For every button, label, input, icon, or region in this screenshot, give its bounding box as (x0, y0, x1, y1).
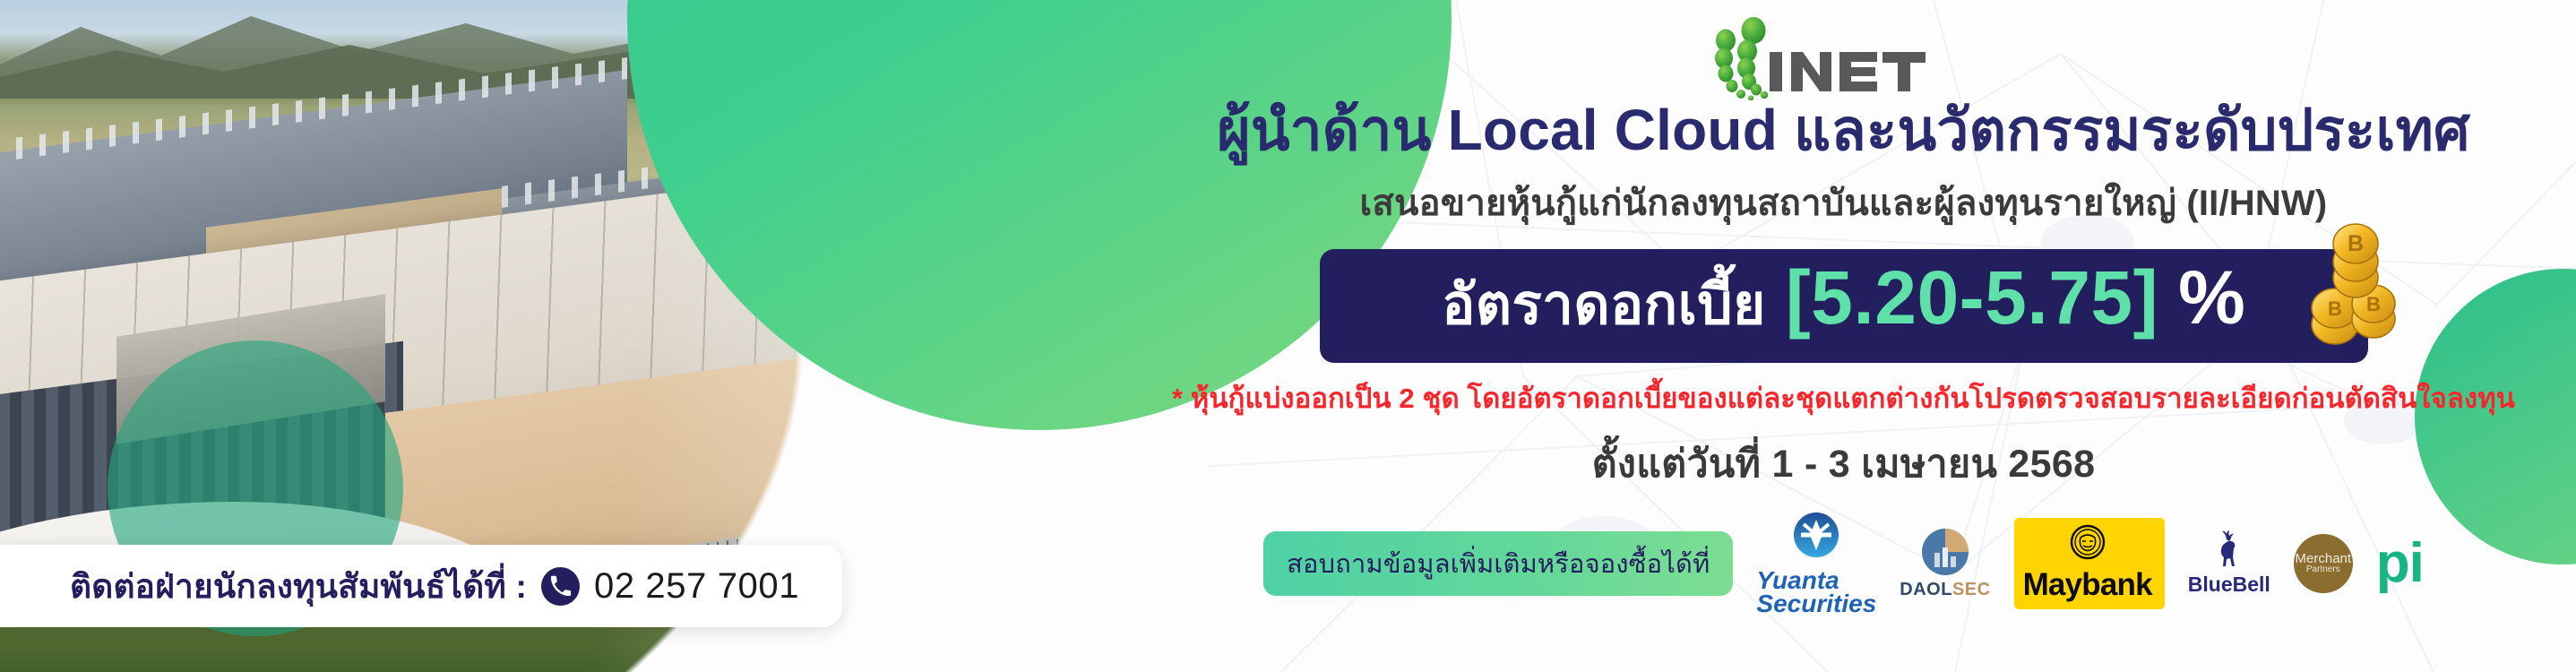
daol-wordmark: DAOLSEC (1900, 580, 1990, 600)
contact-label: ติดต่อฝ่ายนักลงทุนสัมพันธ์ได้ที่ : (70, 560, 527, 613)
logo-wordmark (1770, 52, 1926, 91)
partner-logo-merchant-partners[interactable]: Merchant Partners (2294, 534, 2353, 593)
bluebell-deer-icon (2209, 530, 2250, 572)
phone-icon (541, 567, 580, 606)
interest-rate-value: [5.20-5.75] (1786, 260, 2158, 335)
promo-banner: ติดต่อฝ่ายนักลงทุนสัมพันธ์ได้ที่ : 02 25… (0, 0, 2576, 672)
daol-light: SEC (1952, 580, 1991, 599)
bluebell-wordmark: BlueBell (2188, 573, 2270, 597)
inquiry-cta-button[interactable]: สอบถามข้อมูลเพิ่มเติมหรือจองซื้อได้ที่ (1263, 531, 1733, 596)
disclaimer-note: * หุ้นกู้แบ่งออกเป็น 2 ชุด โดยอัตราดอกเบ… (1172, 375, 2515, 420)
interest-rate-block: อัตราดอกเบี้ย [5.20-5.75] % (1320, 249, 2368, 363)
merchant-line1: Merchant (2296, 552, 2352, 566)
yuanta-line2: Securities (1756, 592, 1876, 616)
page-title: ผู้นำด้าน Local Cloud และนวัตกรรมระดับปร… (1217, 99, 2470, 163)
offer-period-date: ตั้งแต่วันที่ 1 - 3 เมษายน 2568 (1592, 433, 2096, 494)
inet-logo (1696, 14, 1992, 100)
partner-logo-pi-securities[interactable]: pi (2376, 541, 2424, 586)
yuanta-star-icon (1793, 512, 1839, 558)
daol-pie-icon (1919, 526, 1971, 578)
partners-row: สอบถามข้อมูลเพิ่มเติมหรือจองซื้อได้ที่ (1263, 512, 2424, 616)
merchant-line2: Partners (2306, 565, 2340, 575)
pi-wordmark: pi (2376, 541, 2424, 586)
yuanta-line1: Yuanta (1756, 569, 1876, 592)
page-subtitle: เสนอขายหุ้นกู้แก่นักลงทุนสถาบันและผู้ลงท… (1360, 174, 2328, 231)
yuanta-wordmark: Yuanta Securities (1756, 569, 1876, 616)
partner-logo-maybank[interactable]: Maybank (2014, 518, 2165, 609)
svg-text:B: B (2347, 231, 2363, 256)
investor-relations-contact-card[interactable]: ติดต่อฝ่ายนักลงทุนสัมพันธ์ได้ที่ : 02 25… (0, 545, 842, 627)
partner-logo-bluebell[interactable]: BlueBell (2188, 530, 2270, 597)
maybank-tiger-icon (2070, 524, 2106, 560)
contact-phone-number: 02 257 7001 (594, 566, 799, 607)
svg-text:B: B (2366, 293, 2381, 315)
maybank-wordmark: Maybank (2023, 567, 2152, 603)
logo-dots (1715, 17, 1768, 100)
partner-logo-daol-sec[interactable]: DAOLSEC (1900, 526, 1990, 600)
interest-rate-percent: % (2178, 260, 2245, 335)
inet-logo-svg (1696, 14, 1992, 100)
gold-coins-icon: B B B (2286, 219, 2420, 353)
svg-text:B: B (2328, 297, 2342, 320)
daol-bold: DAOL (1900, 580, 1952, 599)
content-column: ผู้นำด้าน Local Cloud และนวัตกรรมระดับปร… (1111, 0, 2576, 672)
partner-logo-yuanta-securities[interactable]: Yuanta Securities (1756, 512, 1876, 616)
interest-rate-badge: อัตราดอกเบี้ย [5.20-5.75] % (1320, 249, 2368, 363)
interest-rate-label: อัตราดอกเบี้ย (1442, 261, 1766, 349)
